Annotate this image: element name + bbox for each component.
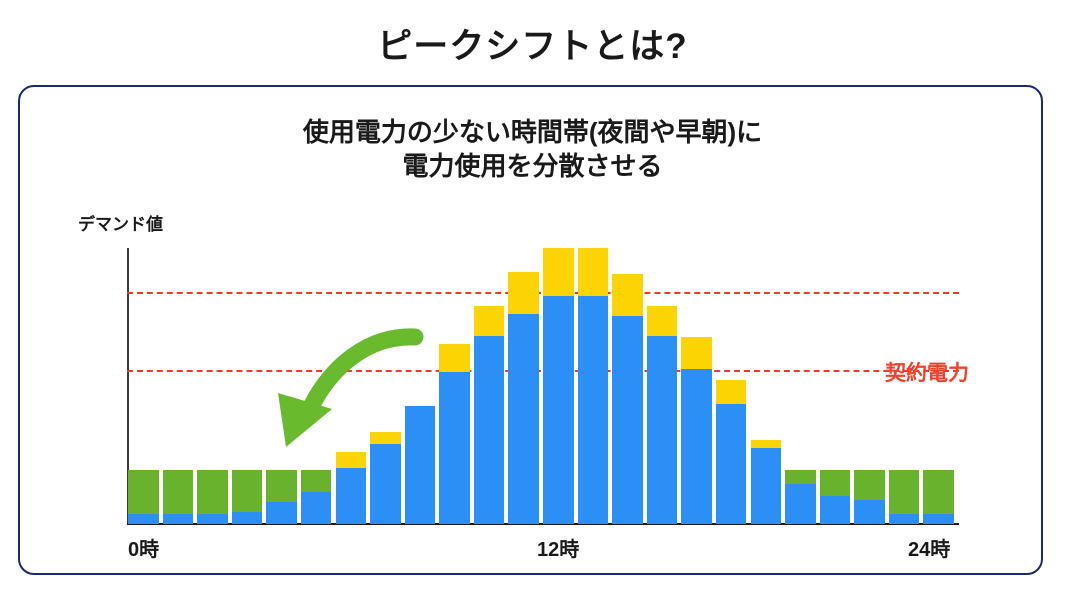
bar-segment-blue-base [785, 484, 816, 524]
bar-segment-green-offpeak [923, 470, 954, 514]
bar-hour-6 [336, 452, 367, 524]
bar-segment-green-offpeak [266, 470, 297, 502]
bar-segment-green-offpeak [820, 470, 851, 496]
bar-segment-blue-base [578, 296, 609, 524]
bar-segment-yellow-shift [647, 306, 678, 336]
bar-segment-blue-base [716, 404, 747, 524]
bar-segment-blue-base [543, 296, 574, 524]
bar-segment-yellow-shift [716, 380, 747, 404]
bar-segment-yellow-shift [439, 344, 470, 372]
bar-hour-21 [854, 470, 885, 524]
x-tick-label-0: 0時 [128, 533, 159, 562]
bar-segment-blue-base [854, 500, 885, 524]
bar-segment-green-offpeak [197, 470, 228, 514]
bar-hour-14 [612, 274, 643, 524]
bar-hour-18 [751, 440, 782, 524]
bar-segment-blue-base [612, 316, 643, 524]
bar-segment-yellow-shift [578, 248, 609, 296]
bar-segment-yellow-shift [543, 248, 574, 296]
bar-segment-blue-base [336, 468, 367, 524]
bar-segment-blue-base [647, 336, 678, 524]
bar-hour-16 [681, 337, 712, 524]
bar-segment-yellow-shift [681, 337, 712, 369]
bar-segment-green-offpeak [163, 470, 194, 514]
bar-hour-15 [647, 306, 678, 524]
bar-hour-2 [197, 470, 228, 524]
bar-hour-23 [923, 470, 954, 524]
bar-segment-green-offpeak [854, 470, 885, 500]
bar-segment-blue-base [923, 514, 954, 524]
bar-segment-blue-base [301, 492, 332, 524]
bar-segment-blue-base [820, 496, 851, 524]
bar-hour-17 [716, 380, 747, 524]
bar-segment-yellow-shift [508, 272, 539, 314]
bar-segment-blue-base [266, 502, 297, 524]
bar-segment-blue-base [163, 514, 194, 524]
bar-segment-yellow-shift [474, 306, 505, 336]
x-tick-label-12: 12時 [537, 533, 579, 562]
bar-segment-blue-base [508, 314, 539, 524]
bar-segment-blue-base [370, 444, 401, 524]
bar-segment-blue-base [128, 514, 159, 524]
shift-arrow-icon [250, 305, 430, 455]
bar-hour-19 [785, 470, 816, 524]
bar-segment-yellow-shift [612, 274, 643, 316]
bar-segment-green-offpeak [889, 470, 920, 514]
bar-segment-blue-base [197, 514, 228, 524]
bar-segment-blue-base [474, 336, 505, 524]
bar-hour-10 [474, 306, 505, 524]
bar-hour-13 [578, 248, 609, 524]
bar-segment-green-offpeak [785, 470, 816, 484]
bar-hour-22 [889, 470, 920, 524]
bar-segment-yellow-shift [751, 440, 782, 448]
chart-plot-area: デマンド値 契約電力 0時 12時 24時 [0, 0, 1065, 600]
bar-segment-blue-base [232, 512, 263, 524]
bar-segment-blue-base [439, 372, 470, 524]
bar-segment-blue-base [889, 514, 920, 524]
bar-hour-5 [301, 470, 332, 524]
bar-segment-blue-base [751, 448, 782, 524]
bar-hour-12 [543, 248, 574, 524]
bar-hour-1 [163, 470, 194, 524]
bar-hour-20 [820, 470, 851, 524]
bar-hour-4 [266, 470, 297, 524]
bar-hour-0 [128, 470, 159, 524]
bar-segment-green-offpeak [301, 470, 332, 492]
y-axis-label: デマンド値 [78, 210, 163, 235]
bar-segment-blue-base [681, 369, 712, 524]
bar-segment-green-offpeak [128, 470, 159, 514]
bar-hour-9 [439, 344, 470, 524]
bar-hour-11 [508, 272, 539, 524]
bar-segment-green-offpeak [232, 470, 263, 512]
x-tick-label-24: 24時 [908, 533, 950, 562]
bar-hour-3 [232, 470, 263, 524]
